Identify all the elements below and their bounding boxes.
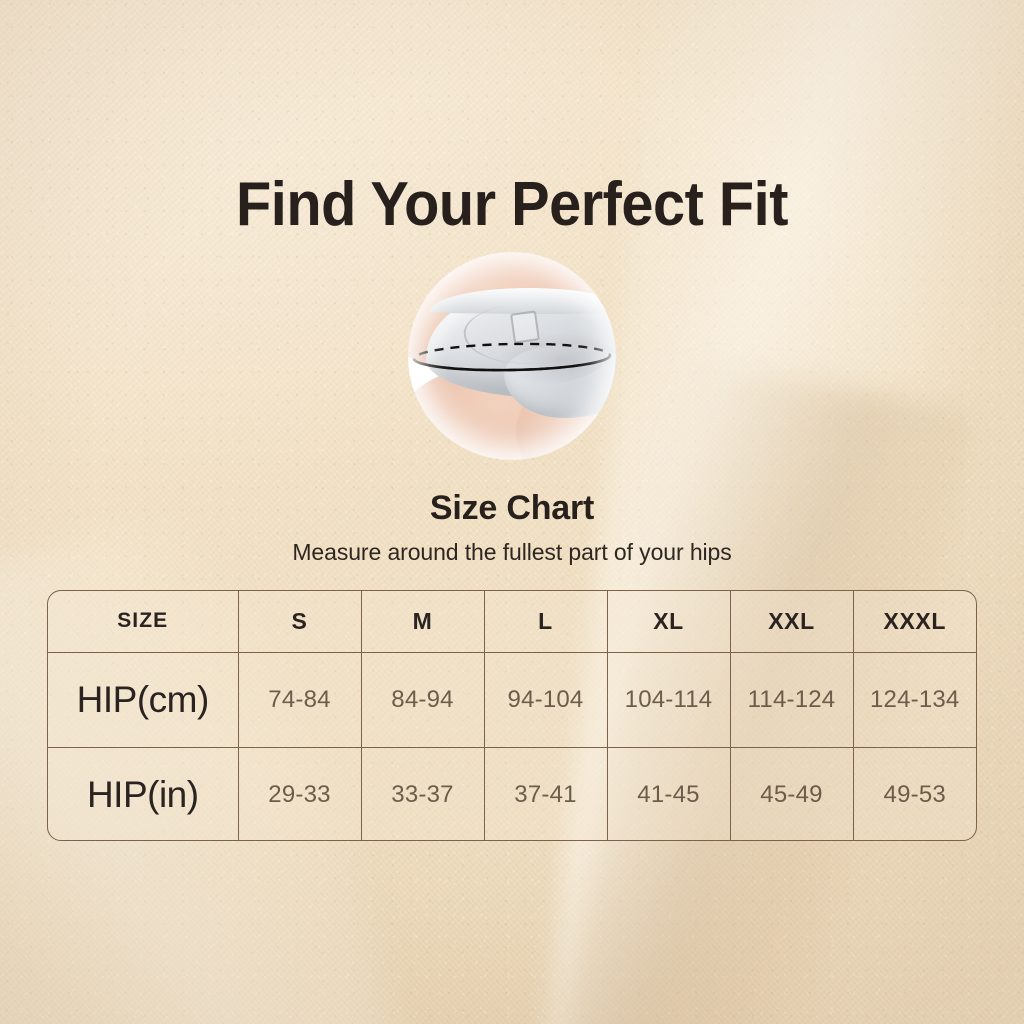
header-cell-xxxl: XXXL: [853, 591, 976, 652]
cell-hip-cm-xl: 104-114: [607, 652, 730, 747]
cell-hip-in-s: 29-33: [238, 747, 361, 841]
row-label-hip-in: HIP(in): [48, 747, 238, 841]
cell-hip-cm-l: 94-104: [484, 652, 607, 747]
cell-hip-in-xl: 41-45: [607, 747, 730, 841]
cell-hip-cm-xxxl: 124-134: [853, 652, 976, 747]
table-row-hip-cm: HIP(cm) 74-84 84-94 94-104 104-114 114-1…: [48, 652, 976, 747]
section-subheading: Measure around the fullest part of your …: [0, 539, 1024, 566]
header-cell-l: L: [484, 591, 607, 652]
cell-hip-in-xxxl: 49-53: [853, 747, 976, 841]
table-row-hip-in: HIP(in) 29-33 33-37 37-41 41-45 45-49 49…: [48, 747, 976, 841]
cell-hip-cm-s: 74-84: [238, 652, 361, 747]
hip-measurement-ellipse-icon: [408, 252, 616, 460]
cell-hip-cm-xxl: 114-124: [730, 652, 853, 747]
cell-hip-in-xxl: 45-49: [730, 747, 853, 841]
page-title: Find Your Perfect Fit: [36, 172, 988, 237]
row-label-hip-cm: HIP(cm): [48, 652, 238, 747]
header-cell-xl: XL: [607, 591, 730, 652]
header-cell-s: S: [238, 591, 361, 652]
section-heading: Size Chart: [0, 489, 1024, 528]
size-chart-page: Find Your Perfect Fit Size Chart Measure…: [0, 0, 1024, 1024]
cell-hip-cm-m: 84-94: [361, 652, 484, 747]
cell-hip-in-m: 33-37: [361, 747, 484, 841]
size-chart-table: SIZE S M L XL XXL XXXL HIP(cm) 74-84 84-…: [47, 590, 977, 841]
cell-hip-in-l: 37-41: [484, 747, 607, 841]
hero-photo-inner: [408, 252, 616, 460]
header-cell-xxl: XXL: [730, 591, 853, 652]
table-header-row: SIZE S M L XL XXL XXXL: [48, 591, 976, 652]
hero-product-photo: [408, 252, 616, 460]
header-cell-m: M: [361, 591, 484, 652]
header-cell-size: SIZE: [48, 591, 238, 652]
